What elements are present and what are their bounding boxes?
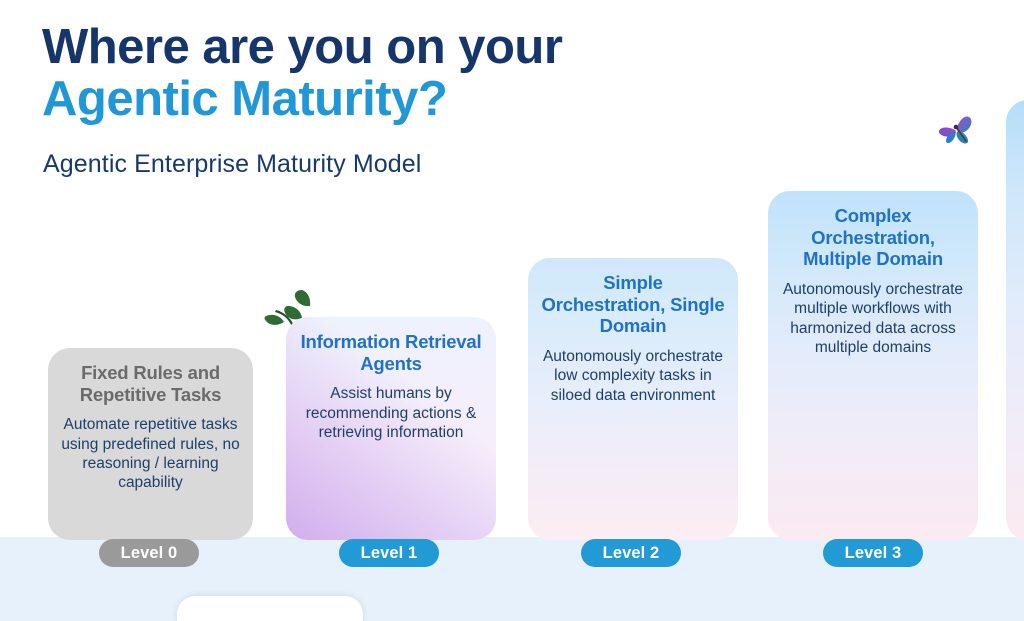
maturity-card-level-0[interactable]: Fixed Rules and Repetitive Tasks Automat… [48,348,253,540]
dumbbell-icon[interactable] [199,616,233,621]
page-title-line1: Where are you on your [42,22,742,74]
card-description: Assist humans by recommending actions & … [298,384,484,442]
status-badge-level-1[interactable]: Level 1 [339,539,439,567]
card-title: Fixed Rules and Repetitive Tasks [60,362,241,405]
blue-circle-icon[interactable] [307,616,341,621]
page-subtitle: Agentic Enterprise Maturity Model [43,150,421,179]
card-description: Autonomously orchestrate multiple workfl… [780,280,966,358]
page-title-line2: Agentic Maturity? [42,74,742,126]
card-title: Information Retrieval Agents [298,331,484,374]
bottom-toolbar[interactable] [177,596,363,621]
card-description: Autonomously orchestrate low complexity … [540,347,726,405]
maturity-card-level-3[interactable]: Complex Orchestration, Multiple Domain A… [768,191,978,540]
status-badge-level-3[interactable]: Level 3 [823,539,923,567]
card-description: Automate repetitive tasks using predefin… [60,415,241,493]
slide-canvas: Where are you on your Agentic Maturity? … [0,0,1024,621]
purple-circle-icon[interactable] [253,616,287,621]
card-title: Complex Orchestration, Multiple Domain [780,205,966,270]
status-badge-level-2[interactable]: Level 2 [581,539,681,567]
maturity-card-level-4-partial[interactable] [1006,100,1024,540]
maturity-card-level-1[interactable]: Information Retrieval Agents Assist huma… [286,317,496,540]
card-title: Simple Orchestration, Single Domain [540,272,726,337]
status-badge-level-0[interactable]: Level 0 [99,539,199,567]
page-title: Where are you on your Agentic Maturity? [42,22,742,126]
butterfly-icon [934,113,976,149]
maturity-card-level-2[interactable]: Simple Orchestration, Single Domain Auto… [528,258,738,540]
